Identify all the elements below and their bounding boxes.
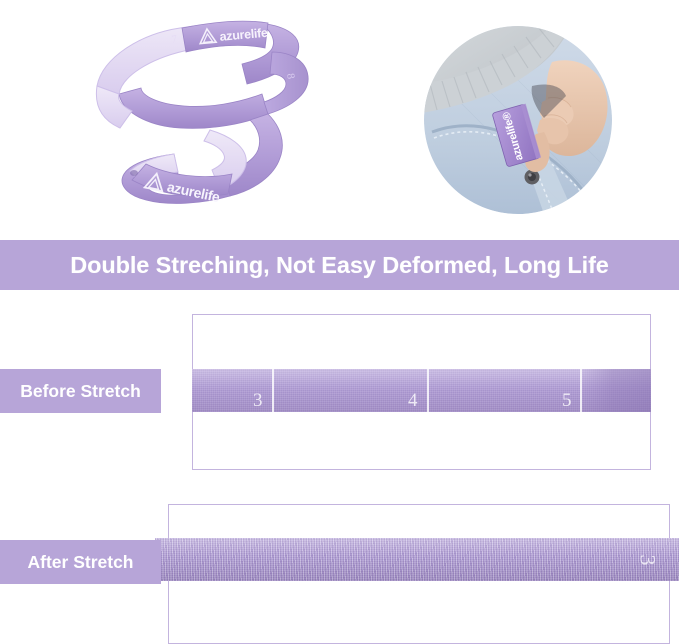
band-shadow-tail <box>581 369 651 412</box>
band-sheen <box>155 538 679 581</box>
after-stretch-label: After Stretch <box>0 540 161 584</box>
product-photo: azurelife 7 8 <box>62 8 382 228</box>
band-number-3: 3 <box>253 391 263 410</box>
before-stretch-band: 3 4 5 <box>192 369 651 412</box>
headline-text: Double Streching, Not Easy Deformed, Lon… <box>70 252 609 279</box>
band-number-4: 4 <box>408 391 418 410</box>
before-stretch-label-text: Before Stretch <box>20 381 141 402</box>
band-number-5: 5 <box>562 391 572 410</box>
lifestyle-photo: azurelife® <box>424 26 612 214</box>
band-number-3-stretched: 3 <box>637 554 659 565</box>
top-photo-section: azurelife 7 8 <box>0 0 679 236</box>
infographic-canvas: azurelife 7 8 <box>0 0 679 644</box>
after-stretch-band: 3 <box>155 538 679 581</box>
coiled-band-illustration: azurelife 7 8 <box>62 8 382 228</box>
band-segment-divider <box>580 369 582 412</box>
pocket-scene-illustration: azurelife® <box>424 26 612 214</box>
headline-banner: Double Streching, Not Easy Deformed, Lon… <box>0 240 679 290</box>
eyelet-icon <box>130 170 138 176</box>
band-segment-divider <box>427 369 429 412</box>
after-stretch-label-text: After Stretch <box>28 552 134 573</box>
before-stretch-label: Before Stretch <box>0 369 161 413</box>
band-segment-divider <box>272 369 274 412</box>
